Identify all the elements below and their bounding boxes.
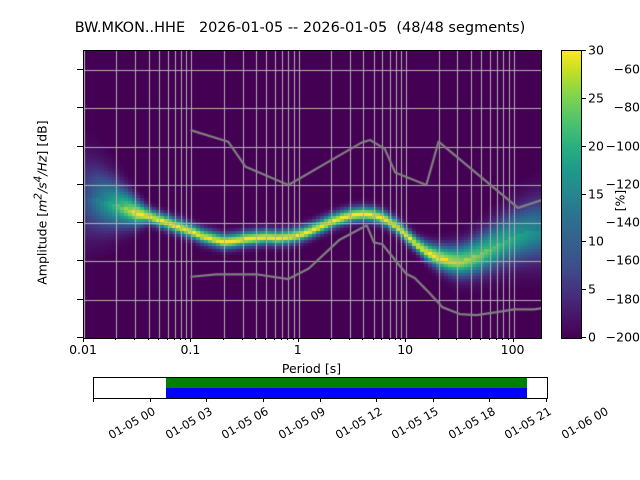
colorbar-tick-label: 20 <box>588 138 604 153</box>
timeline-tick-label: 01-05 09 <box>276 404 328 442</box>
timeline-tick-label: 01-05 12 <box>332 404 384 442</box>
timeline-tick-mark <box>93 398 94 402</box>
colorbar-tick-mark <box>581 337 586 338</box>
y-tick-mark <box>77 184 83 185</box>
y-tick-mark <box>77 222 83 223</box>
x-tick-label: 0.1 <box>180 342 200 357</box>
x-minor-tick-mark <box>496 338 497 340</box>
x-minor-tick-mark <box>438 338 439 340</box>
y-tick-label: −80 <box>568 100 640 115</box>
data-coverage-blue <box>166 388 526 398</box>
data-coverage-timeline[interactable] <box>93 377 548 399</box>
x-minor-tick-mark <box>174 338 175 340</box>
x-minor-tick-mark <box>180 338 181 340</box>
timeline-tick-label: 01-05 00 <box>106 404 158 442</box>
colorbar-tick-mark <box>581 289 586 290</box>
x-tick-label: 1 <box>294 342 302 357</box>
x-minor-tick-mark <box>167 338 168 340</box>
colorbar-tick-label: 5 <box>588 282 596 297</box>
x-tick-mark <box>190 338 191 342</box>
data-coverage-green <box>166 378 526 388</box>
y-tick-mark <box>77 146 83 147</box>
ppsd-figure: BW.MKON..HHE 2026-01-05 -- 2026-01-05 (4… <box>0 0 640 480</box>
x-minor-tick-mark <box>470 338 471 340</box>
timeline-tick-mark <box>433 398 434 402</box>
y-tick-label: −100 <box>568 138 640 153</box>
x-minor-tick-mark <box>274 338 275 340</box>
x-minor-tick-mark <box>456 338 457 340</box>
x-minor-tick-mark <box>362 338 363 340</box>
colorbar-tick-mark <box>581 98 586 99</box>
x-minor-tick-mark <box>265 338 266 340</box>
page-title: BW.MKON..HHE 2026-01-05 -- 2026-01-05 (4… <box>0 20 600 36</box>
x-tick-mark <box>298 338 299 342</box>
x-axis-label: Period [s] <box>83 361 540 376</box>
timeline-tick-mark <box>206 398 207 402</box>
x-minor-tick-mark <box>148 338 149 340</box>
x-tick-label: 100 <box>501 342 525 357</box>
colorbar-tick-mark <box>581 194 586 195</box>
colorbar-tick-mark <box>581 241 586 242</box>
x-minor-tick-mark <box>158 338 159 340</box>
x-minor-tick-mark <box>281 338 282 340</box>
colorbar-tick-mark <box>581 50 586 51</box>
ppsd-plot-area[interactable] <box>83 50 542 339</box>
x-minor-tick-mark <box>373 338 374 340</box>
timeline-tick-mark <box>320 398 321 402</box>
x-minor-tick-mark <box>185 338 186 340</box>
colorbar-tick-label: 25 <box>588 90 604 105</box>
y-tick-mark <box>77 299 83 300</box>
x-minor-tick-mark <box>293 338 294 340</box>
colorbar-tick-mark <box>581 146 586 147</box>
x-minor-tick-mark <box>489 338 490 340</box>
peterson-noise-model-curves <box>84 51 541 338</box>
y-tick-label: −60 <box>568 62 640 77</box>
x-minor-tick-mark <box>480 338 481 340</box>
x-minor-tick-mark <box>255 338 256 340</box>
y-tick-label: −180 <box>568 291 640 306</box>
y-tick-mark <box>77 69 83 70</box>
x-tick-label: 0.01 <box>69 342 97 357</box>
x-minor-tick-mark <box>287 338 288 340</box>
x-minor-tick-mark <box>400 338 401 340</box>
timeline-tick-mark <box>376 398 377 402</box>
timeline-tick-label: 01-05 15 <box>389 404 441 442</box>
x-minor-tick-mark <box>349 338 350 340</box>
y-tick-label: −160 <box>568 253 640 268</box>
y-tick-label: −120 <box>568 176 640 191</box>
timeline-tick-mark <box>489 398 490 402</box>
x-minor-tick-mark <box>381 338 382 340</box>
y-tick-label: −140 <box>568 215 640 230</box>
colorbar-tick-label: 30 <box>588 43 604 58</box>
x-tick-mark <box>405 338 406 342</box>
timeline-tick-label: 01-05 21 <box>502 404 554 442</box>
y-axis-label: Amplitude [m2/s4/Hz] [dB] <box>32 58 49 348</box>
x-minor-tick-mark <box>508 338 509 340</box>
y-tick-mark <box>77 260 83 261</box>
colorbar-tick-label: 15 <box>588 186 604 201</box>
colorbar-tick-label: 10 <box>588 234 604 249</box>
timeline-tick-mark <box>546 398 547 402</box>
x-minor-tick-mark <box>502 338 503 340</box>
x-tick-label: 10 <box>397 342 413 357</box>
x-minor-tick-mark <box>330 338 331 340</box>
x-tick-mark <box>513 338 514 342</box>
y-tick-label: −200 <box>568 330 640 345</box>
timeline-tick-label: 01-05 18 <box>446 404 498 442</box>
x-minor-tick-mark <box>395 338 396 340</box>
timeline-tick-mark <box>150 398 151 402</box>
x-minor-tick-mark <box>134 338 135 340</box>
x-minor-tick-mark <box>223 338 224 340</box>
colorbar-tick-label: 0 <box>588 330 596 345</box>
timeline-tick-label: 01-05 06 <box>219 404 271 442</box>
x-tick-mark <box>83 338 84 342</box>
x-minor-tick-mark <box>389 338 390 340</box>
x-minor-tick-mark <box>115 338 116 340</box>
y-tick-mark <box>77 107 83 108</box>
colorbar-label: [%] <box>613 156 628 246</box>
x-minor-tick-mark <box>242 338 243 340</box>
timeline-tick-label: 01-06 00 <box>559 404 611 442</box>
timeline-tick-mark <box>263 398 264 402</box>
timeline-tick-label: 01-05 03 <box>163 404 215 442</box>
